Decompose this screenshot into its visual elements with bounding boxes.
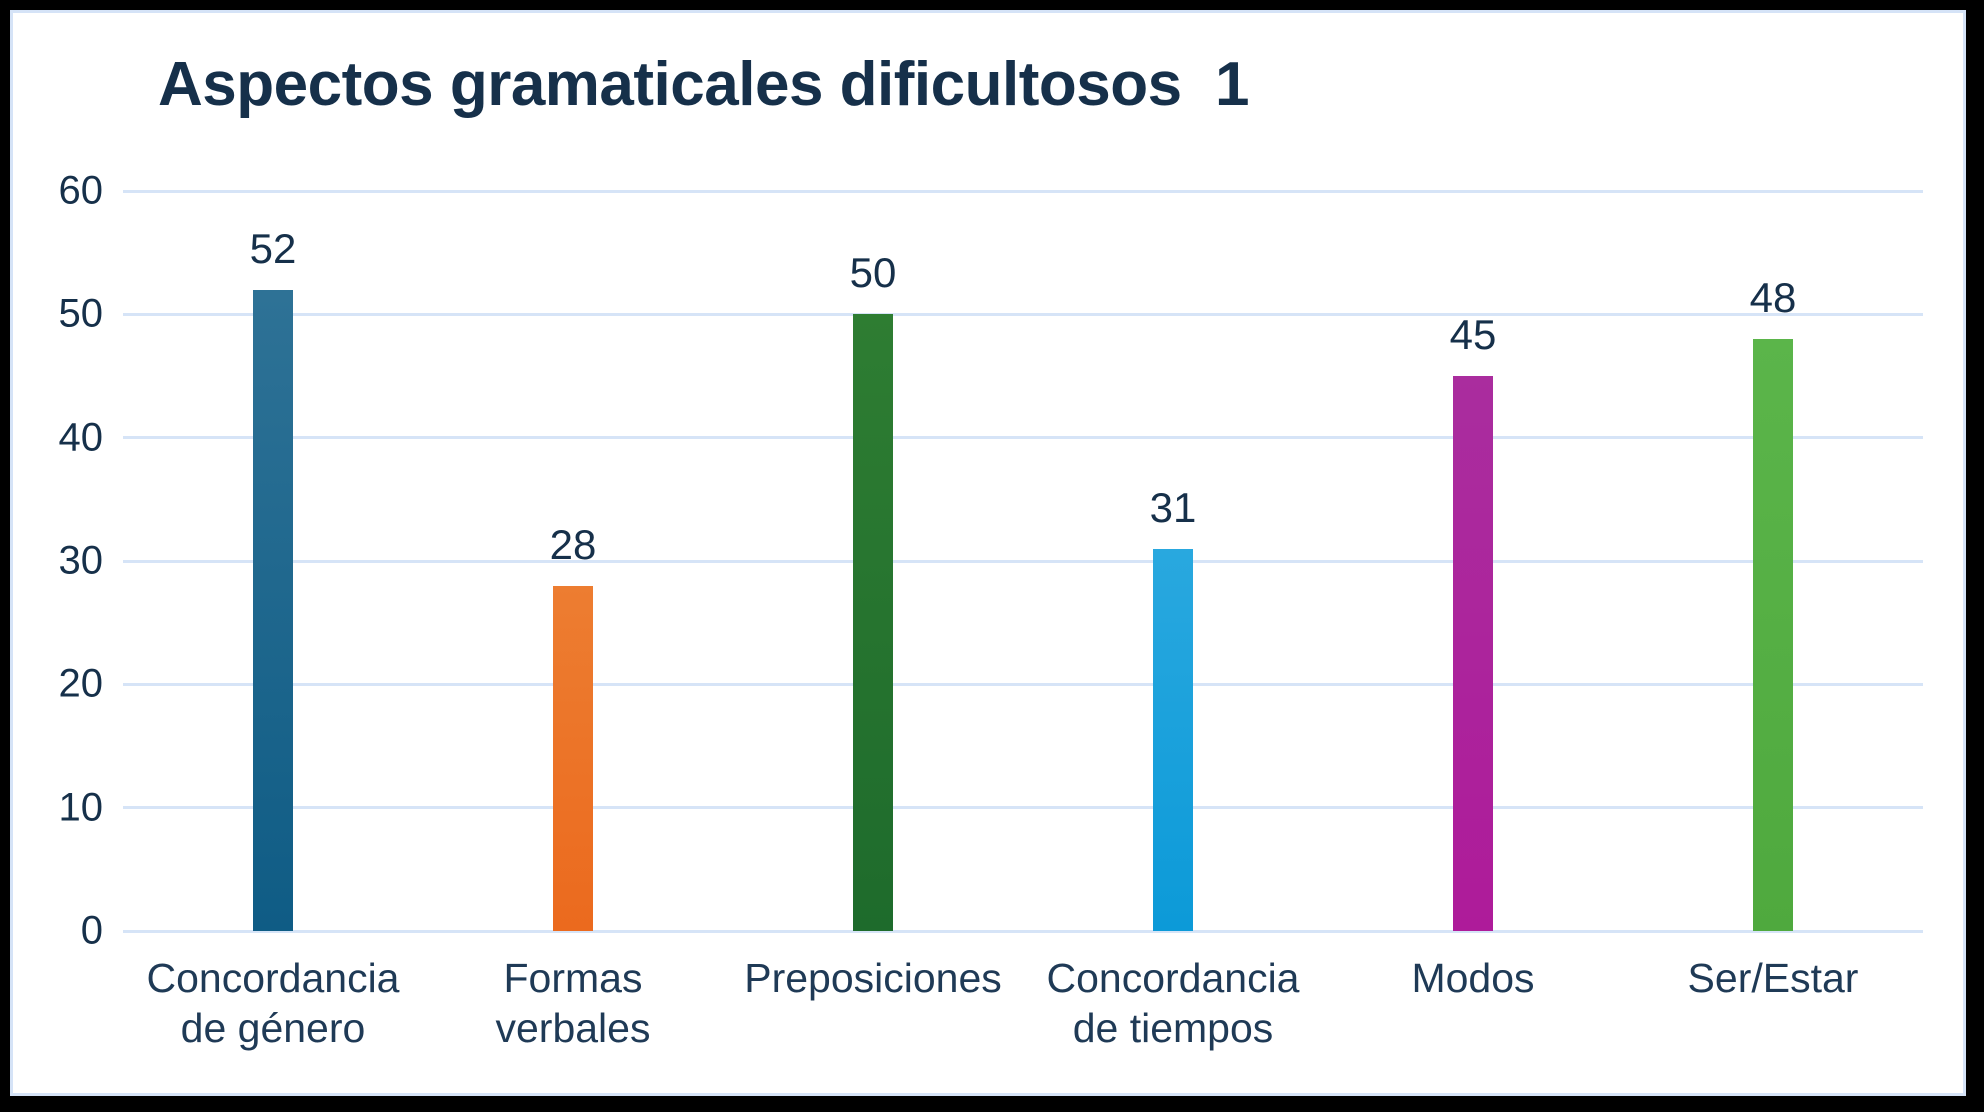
category-axis: Concordancia de géneroFormas verbalesPre… <box>123 953 1923 1093</box>
category-label: Formas verbales <box>423 953 723 1053</box>
bar[interactable] <box>553 586 593 931</box>
y-axis-tick-50: 50 <box>0 292 103 337</box>
y-axis-tick-10: 10 <box>0 785 103 830</box>
bar-value-label: 28 <box>550 524 597 566</box>
bar-value-label: 48 <box>1750 277 1797 319</box>
bar-slot: 31 <box>1023 191 1323 931</box>
y-axis-tick-20: 20 <box>0 662 103 707</box>
bar[interactable] <box>1153 549 1193 931</box>
bar-value-label: 45 <box>1450 314 1497 356</box>
bar-slot: 45 <box>1323 191 1623 931</box>
y-axis-tick-0: 0 <box>0 909 103 954</box>
category-label: Concordancia de tiempos <box>1023 953 1323 1053</box>
chart-title: Aspectos gramaticales dificultosos 1 <box>158 49 1249 120</box>
bar[interactable] <box>1453 376 1493 931</box>
category-label: Concordancia de género <box>123 953 423 1053</box>
chart-frame: Aspectos gramaticales dificultosos 1 605… <box>10 10 1966 1096</box>
y-axis-tick-30: 30 <box>0 539 103 584</box>
bar[interactable] <box>253 290 293 931</box>
bar-slot: 52 <box>123 191 423 931</box>
y-axis-tick-40: 40 <box>0 415 103 460</box>
bar[interactable] <box>853 314 893 931</box>
category-label: Ser/Estar <box>1623 953 1923 1003</box>
bar-value-label: 31 <box>1150 487 1197 529</box>
plot-area: 6050403020100522850314548 <box>123 191 1923 931</box>
y-axis-tick-60: 60 <box>0 169 103 214</box>
category-label: Modos <box>1323 953 1623 1003</box>
bar[interactable] <box>1753 339 1793 931</box>
bar-slot: 48 <box>1623 191 1923 931</box>
bar-slot: 28 <box>423 191 723 931</box>
bar-slot: 50 <box>723 191 1023 931</box>
category-label: Preposiciones <box>723 953 1023 1003</box>
bar-value-label: 52 <box>250 228 297 270</box>
bar-value-label: 50 <box>850 252 897 294</box>
